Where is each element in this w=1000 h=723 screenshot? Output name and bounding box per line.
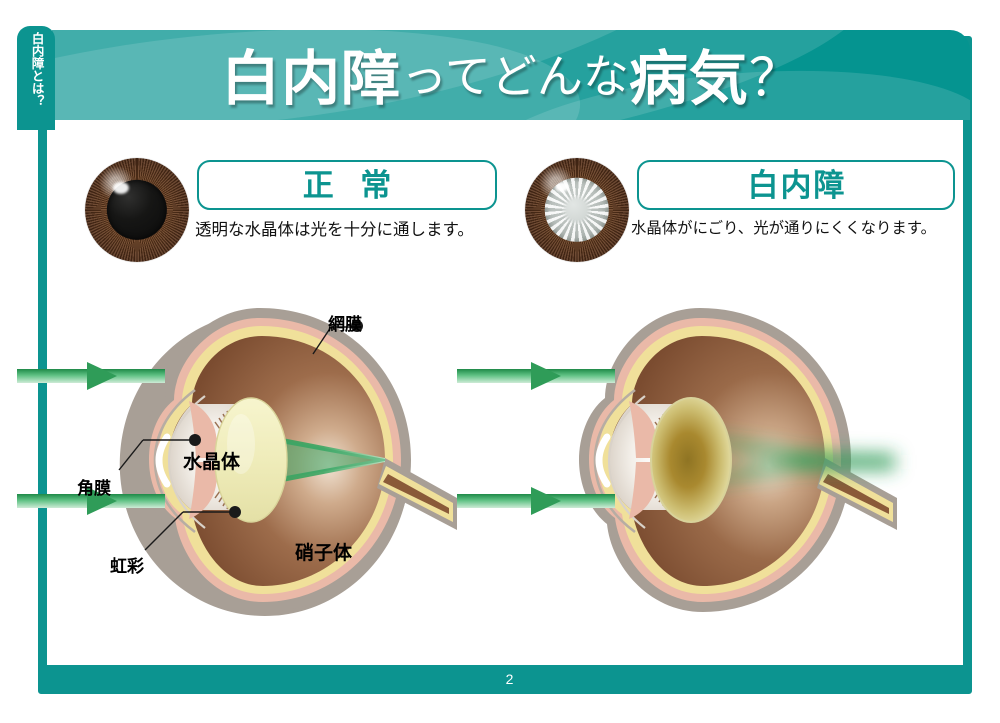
panel-cataract-title: 白内障	[746, 170, 847, 201]
title-part-kanji-1: 白内障	[221, 46, 401, 112]
panel-cataract-header: 白内障 水晶体がにごり、光が通りにくくなります。	[495, 150, 955, 268]
title-part-kanji-2: 病気	[629, 46, 749, 112]
panel-cataract-title-box: 白内障	[637, 160, 955, 210]
pupil-clouded	[545, 178, 609, 242]
cataract-eye-cross-section	[495, 262, 955, 652]
iris-dot	[229, 506, 241, 518]
page-title: 白内障ってどんな病気？	[52, 31, 970, 116]
label-vitreous: 硝子体	[295, 538, 352, 565]
panel-normal-title-box: 正 常	[197, 160, 497, 210]
label-cornea: 角膜	[77, 474, 111, 499]
page-root: 白内障とは？ 白内障ってどんな病気？ 正 常 透明な水晶体は光を十分に通します。	[0, 0, 1000, 723]
side-tab[interactable]: 白内障とは？	[17, 26, 55, 130]
title-part-hiragana: ってどんな	[401, 50, 629, 102]
normal-eye-cross-section: 網膜 水晶体 角膜 虹彩 硝子体	[55, 262, 515, 652]
side-tab-label: 白内障とは？	[29, 32, 42, 107]
normal-eye-photo-icon	[85, 158, 189, 262]
cataract-eye-photo-icon	[525, 158, 629, 262]
title-part-question: ？	[749, 50, 801, 108]
label-lens: 水晶体	[183, 447, 240, 474]
panel-cataract: 白内障 水晶体がにごり、光が通りにくくなります。	[495, 150, 955, 650]
panel-normal-header: 正 常 透明な水晶体は光を十分に通します。	[55, 150, 515, 268]
page-footer: 2	[47, 665, 972, 694]
panel-normal-caption: 透明な水晶体は光を十分に通します。	[195, 216, 525, 240]
page-number: 2	[506, 671, 514, 687]
label-iris: 虹彩	[110, 552, 144, 577]
label-retina: 網膜	[328, 310, 362, 335]
panel-cataract-caption: 水晶体がにごり、光が通りにくくなります。	[631, 216, 961, 238]
cornea-dot	[189, 434, 201, 446]
header-banner: 白内障ってどんな病気？	[52, 30, 970, 120]
panel-normal-title: 正 常	[294, 170, 401, 201]
panel-normal: 正 常 透明な水晶体は光を十分に通します。	[55, 150, 515, 650]
